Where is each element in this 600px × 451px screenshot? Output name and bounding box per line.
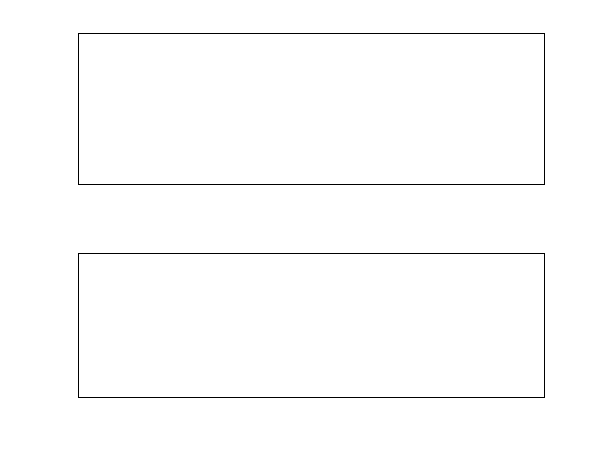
figure-canvas (0, 0, 600, 451)
tick-label-layer (0, 0, 600, 451)
